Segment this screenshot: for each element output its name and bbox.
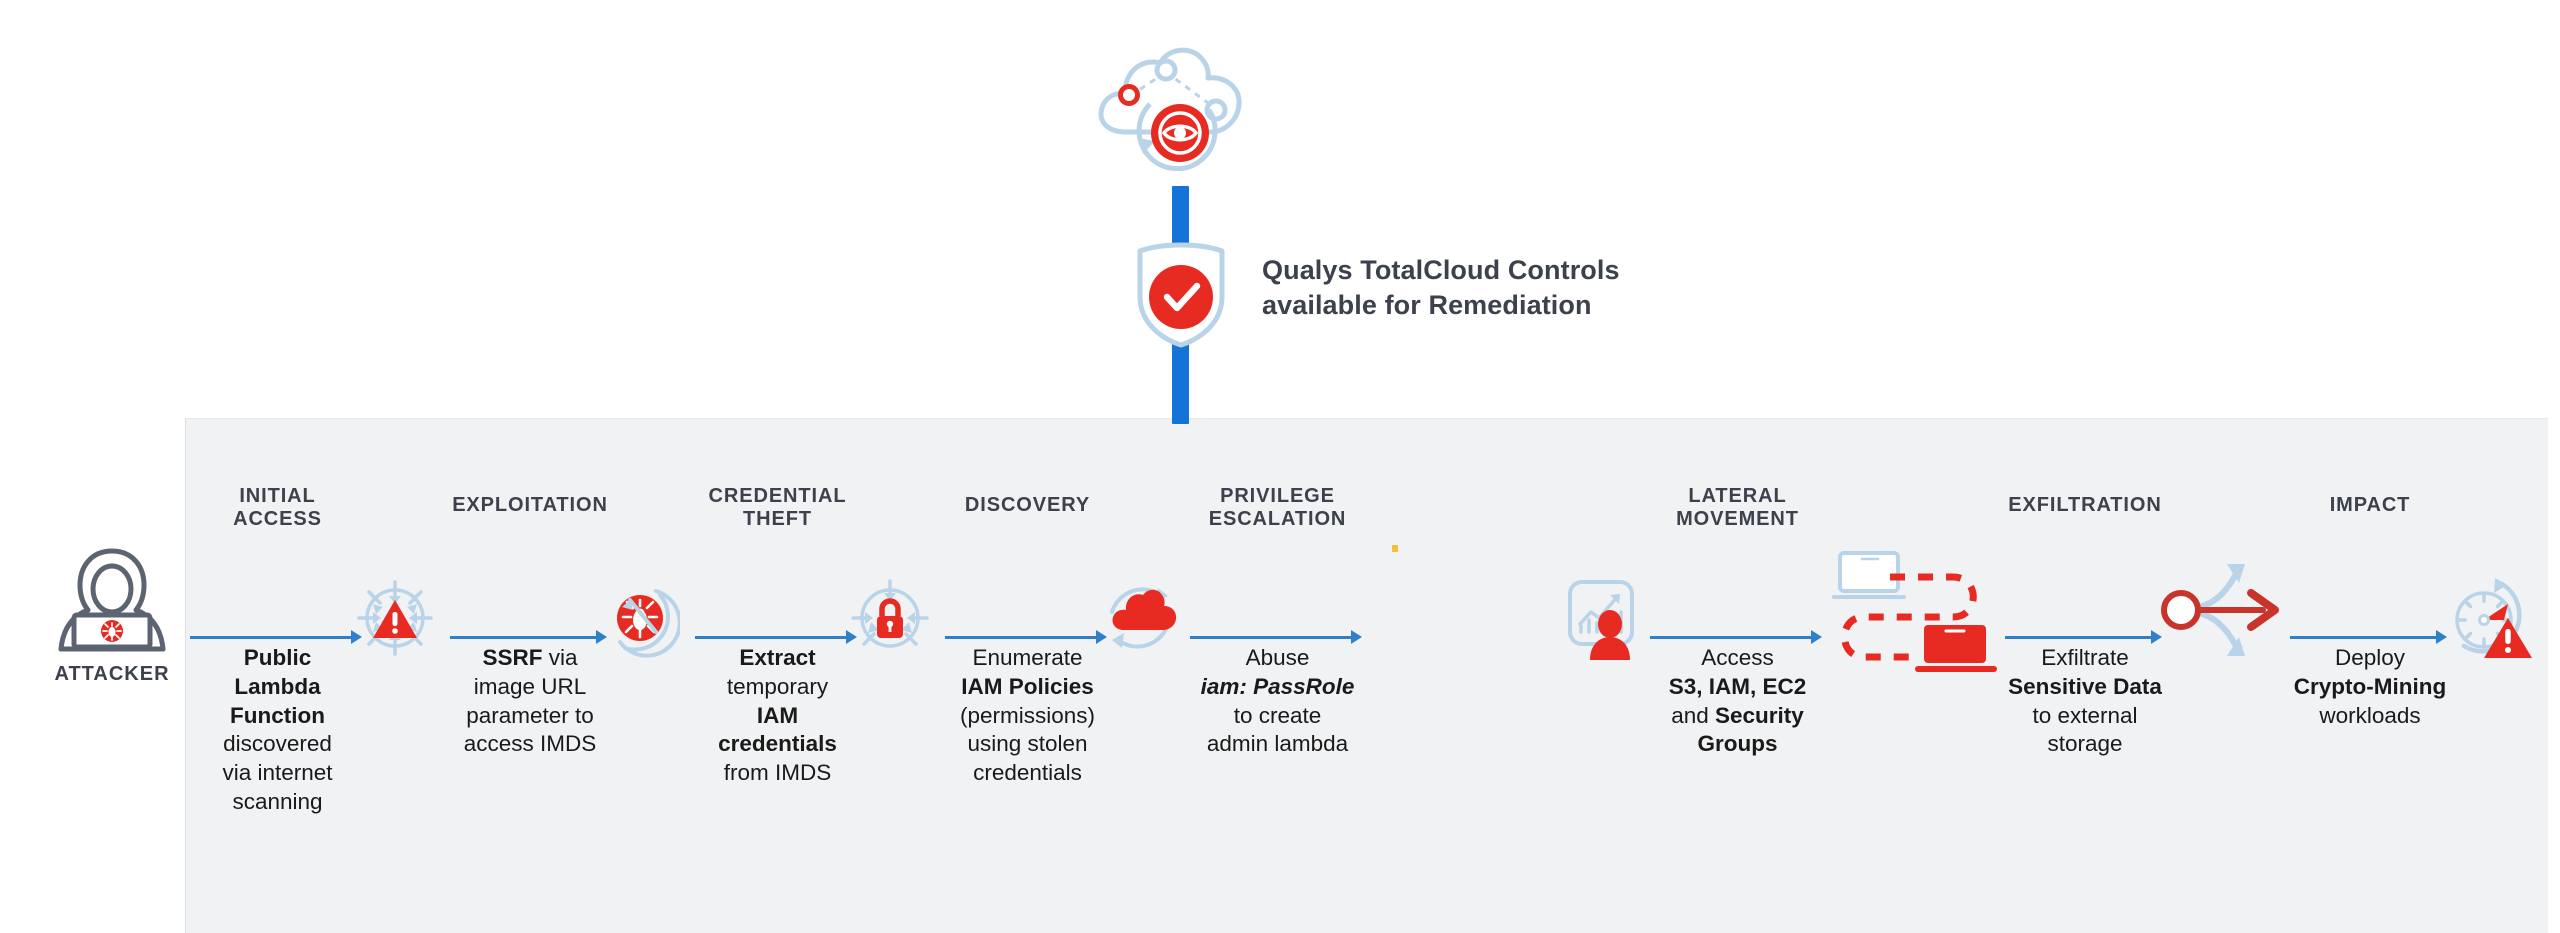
decorative-dot [1392,545,1398,552]
chart-user-icon [1560,574,1646,665]
stage-title: INITIALACCESS [190,485,365,532]
stage-arrow-line [190,636,353,639]
gauge-warning-icon [2440,574,2532,671]
qualys-line-1: Qualys TotalCloud Controls [1262,253,1620,288]
bug-scan-icon [600,578,680,663]
shield-check-icon [1122,235,1240,350]
stage-title: PRIVILEGEESCALATION [1190,485,1365,532]
warning-triangle-target-icon [355,578,435,663]
branch-diverge-icon [2155,550,2285,675]
hooded-attacker-laptop-icon [47,545,177,660]
stage-arrow-line [695,636,848,639]
stage-description: SSRF viaimage URLparameter toaccess IMDS [450,644,610,759]
cloud-monitoring-icon [1090,32,1260,182]
attacker-block: ATTACKER [42,545,182,695]
stage-description: ExfiltrateSensitive Datato externalstora… [2005,644,2165,759]
stage-title: LATERALMOVEMENT [1650,485,1825,532]
diagram-canvas: Qualys TotalCloud Controls available for… [0,0,2560,933]
cloud-sync-icon [1100,578,1180,663]
stage-title: DISCOVERY [945,494,1110,518]
stage-arrow-line [1190,636,1353,639]
stage-arrow-line [450,636,598,639]
stage-description: DeployCrypto-Miningworkloads [2290,644,2450,730]
laptop-transfer-icon [1828,545,2008,680]
stage-description: Abuseiam: PassRoleto createadmin lambda [1190,644,1365,759]
stage-arrow-line [2005,636,2153,639]
stage-description: ExtracttemporaryIAMcredentialsfrom IMDS [695,644,860,788]
qualys-line-2: available for Remediation [1262,288,1620,323]
stage-description: EnumerateIAM Policies(permissions)using … [945,644,1110,788]
stage-arrow-line [2290,636,2438,639]
stage-description: AccessS3, IAM, EC2and SecurityGroups [1650,644,1825,759]
stage-title: EXPLOITATION [450,494,610,518]
stage-title: EXFILTRATION [2005,494,2165,518]
attacker-label: ATTACKER [42,663,182,686]
stage-arrow-line [945,636,1098,639]
stage-arrow-line [1650,636,1813,639]
stage-title: CREDENTIALTHEFT [695,485,860,532]
qualys-callout-text: Qualys TotalCloud Controls available for… [1262,253,1620,322]
stage-arrow-head [1351,630,1362,644]
stage-title: IMPACT [2290,494,2450,518]
lock-target-icon [850,578,930,663]
stage-arrow-head [1811,630,1822,644]
stage-description: PublicLambdaFunctiondiscoveredvia intern… [190,644,365,817]
